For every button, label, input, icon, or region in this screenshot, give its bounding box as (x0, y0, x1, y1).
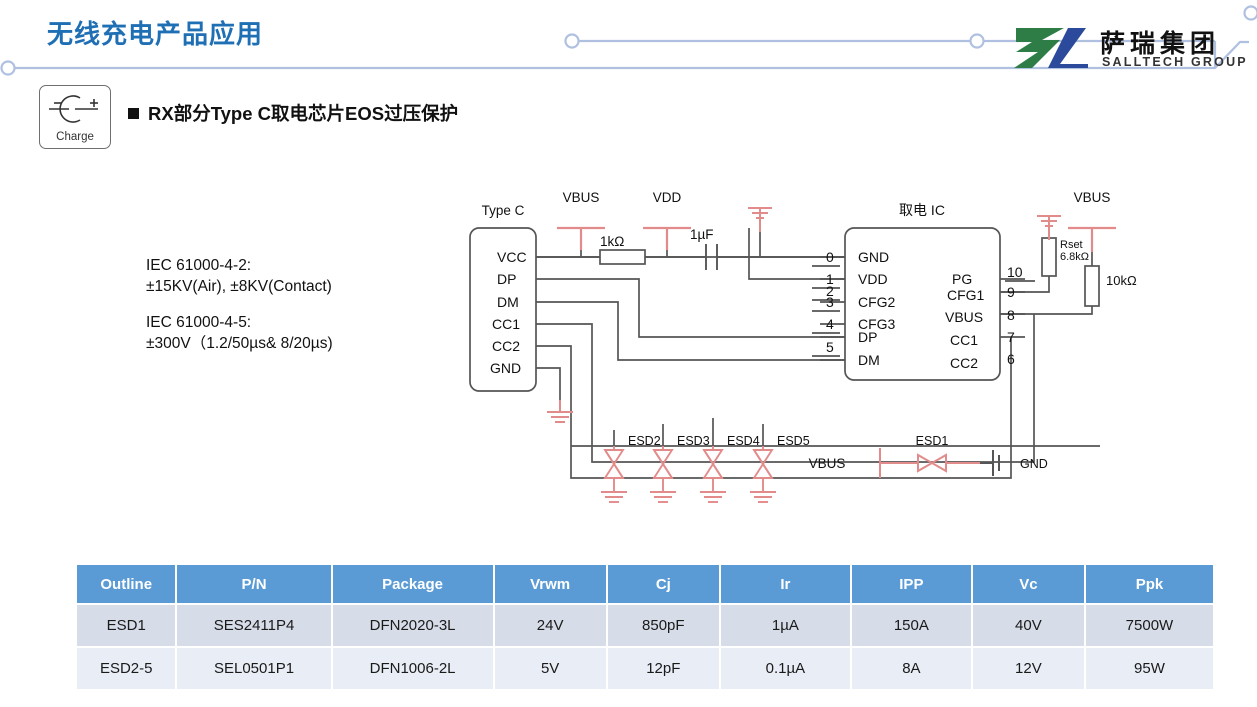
th-vc: Vc (972, 564, 1085, 604)
ic-pin-dm: DM (858, 352, 880, 368)
esd-spec-table: Outline P/N Package Vrwm Cj Ir IPP Vc Pp… (75, 563, 1215, 691)
resistor-1k-label: 1kΩ (600, 234, 624, 249)
capacitor-1uf-label: 1µF (690, 227, 714, 242)
typec-pin-cc2: CC2 (492, 338, 520, 354)
cell-vrwm: 24V (494, 604, 607, 647)
resistor-1k-symbol (600, 250, 645, 264)
ic-pin-cc2: CC2 (950, 355, 978, 371)
th-outline: Outline (76, 564, 176, 604)
esd2-label: ESD2 (628, 434, 661, 448)
rail-label-vbus-left: VBUS (563, 190, 600, 205)
ic-pinnum-0: 0 (826, 249, 834, 265)
ic-pinnum-10: 10 (1007, 264, 1023, 280)
th-package: Package (332, 564, 494, 604)
esd3-label: ESD3 (677, 434, 710, 448)
cell-ppk: 95W (1085, 647, 1214, 690)
ic-pin-pg: PG (952, 271, 972, 287)
th-ir: Ir (720, 564, 851, 604)
typec-pin-cc1: CC1 (492, 316, 520, 332)
ic-pinnum-4: 4 (826, 316, 834, 332)
circuit-schematic: Type C 取电 IC VCC DP DM CC1 CC2 GND GND V… (0, 0, 1257, 545)
cell-vc: 40V (972, 604, 1085, 647)
th-ppk: Ppk (1085, 564, 1214, 604)
cell-ipp: 150A (851, 604, 972, 647)
resistor-rset-symbol (1042, 238, 1056, 276)
cell-package: DFN2020-3L (332, 604, 494, 647)
esd1-diode-group (880, 448, 999, 478)
cell-vc: 12V (972, 647, 1085, 690)
cell-pn: SEL0501P1 (176, 647, 331, 690)
table-header-row: Outline P/N Package Vrwm Cj Ir IPP Vc Pp… (76, 564, 1214, 604)
cell-ir: 1µA (720, 604, 851, 647)
cell-outline: ESD2-5 (76, 647, 176, 690)
cell-ir: 0.1µA (720, 647, 851, 690)
resistor-rset-name: Rset (1060, 239, 1083, 251)
esd1-label: ESD1 (916, 434, 949, 448)
ic-pinnum-6: 6 (1007, 351, 1015, 367)
ic-pin-cfg2: CFG2 (858, 294, 896, 310)
esd1-vbus-label: VBUS (809, 456, 846, 471)
ic-pin-cc1: CC1 (950, 332, 978, 348)
ic-pinnum-8: 8 (1007, 307, 1015, 323)
cell-package: DFN1006-2L (332, 647, 494, 690)
typec-title: Type C (482, 203, 525, 218)
ic-pin-vbus: VBUS (945, 309, 983, 325)
cell-pn: SES2411P4 (176, 604, 331, 647)
power-rail-markers (557, 228, 1116, 252)
table-row: ESD2-5 SEL0501P1 DFN1006-2L 5V 12pF 0.1µ… (76, 647, 1214, 690)
ic-pinnum-7: 7 (1007, 329, 1015, 345)
esd4-label: ESD4 (727, 434, 760, 448)
ic-pinnum-3: 3 (826, 294, 834, 310)
rail-label-vbus-right: VBUS (1074, 190, 1111, 205)
resistor-rset-value: 6.8kΩ (1060, 251, 1089, 263)
ic-pin-cfg1: CFG1 (947, 287, 985, 303)
typec-pin-dm: DM (497, 294, 519, 310)
slide-root: 无线充电产品应用 萨瑞集团 SALLTECH GROUP Charge RX部分… (0, 0, 1257, 707)
th-vrwm: Vrwm (494, 564, 607, 604)
table-row: ESD1 SES2411P4 DFN2020-3L 24V 850pF 1µA … (76, 604, 1214, 647)
esd1-gnd-label: GND (1020, 457, 1048, 471)
esd5-label: ESD5 (777, 434, 810, 448)
esd-diode-group (601, 446, 776, 502)
ic-title: 取电 IC (899, 202, 945, 218)
ic-pin-gnd: GND (858, 249, 889, 265)
typec-pin-gnd: GND (490, 360, 521, 376)
typec-pin-vcc: VCC (497, 249, 527, 265)
ic-pin-vdd: VDD (858, 271, 888, 287)
th-cj: Cj (607, 564, 720, 604)
cell-ppk: 7500W (1085, 604, 1214, 647)
th-pn: P/N (176, 564, 331, 604)
cell-vrwm: 5V (494, 647, 607, 690)
ic-pinnum-5: 5 (826, 339, 834, 355)
cell-cj: 12pF (607, 647, 720, 690)
rail-label-vdd: VDD (653, 190, 682, 205)
cell-cj: 850pF (607, 604, 720, 647)
resistor-10k-symbol (1085, 266, 1099, 306)
ic-pin-dp: DP (858, 329, 877, 345)
typec-pin-dp: DP (497, 271, 516, 287)
th-ipp: IPP (851, 564, 972, 604)
cell-outline: ESD1 (76, 604, 176, 647)
resistor-10k-label: 10kΩ (1106, 273, 1137, 288)
ic-pinnum-9: 9 (1007, 284, 1015, 300)
cell-ipp: 8A (851, 647, 972, 690)
